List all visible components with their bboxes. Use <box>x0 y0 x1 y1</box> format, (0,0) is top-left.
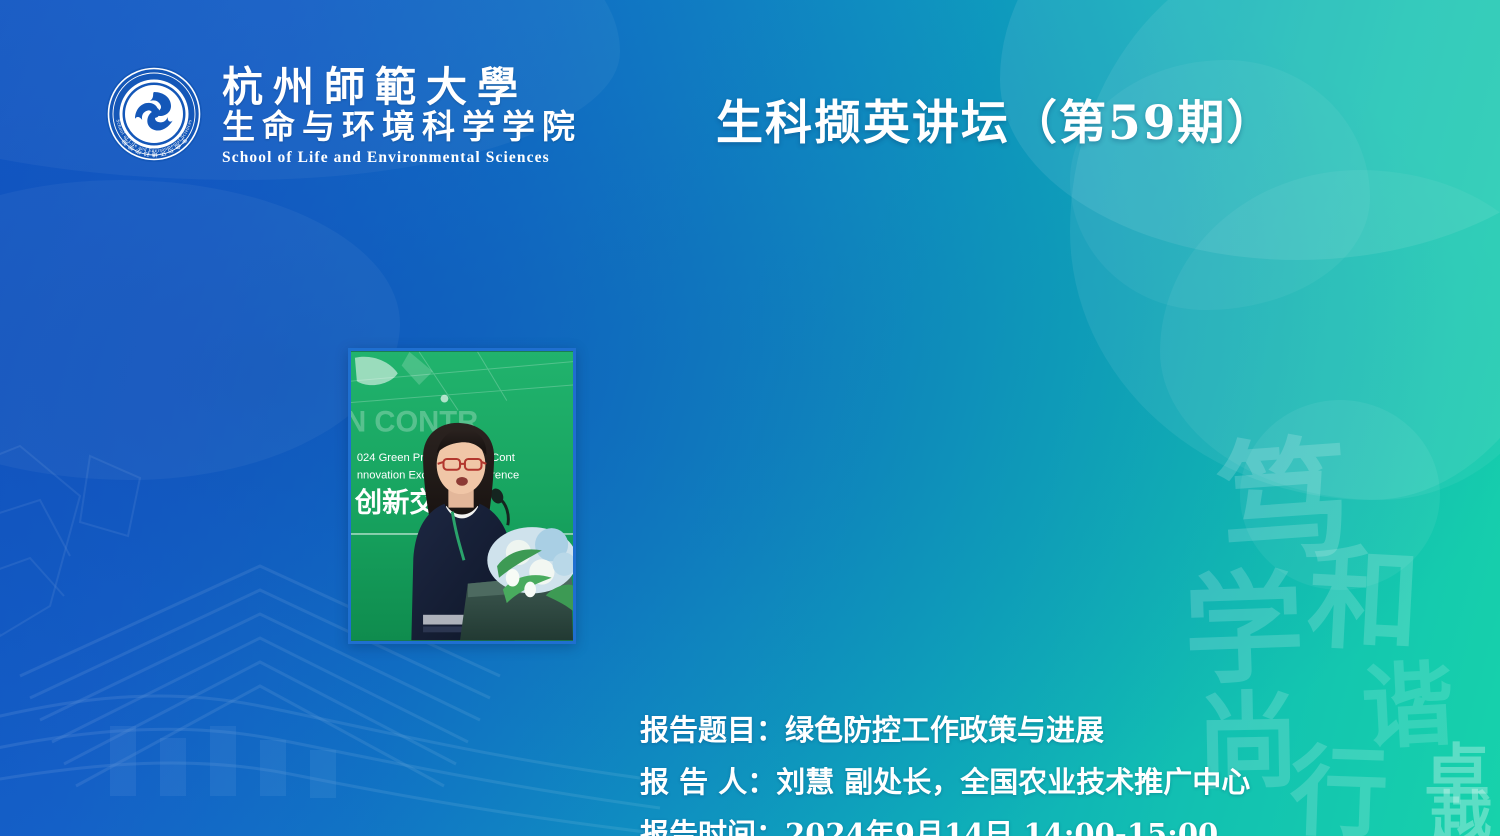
school-name-cn: 生命与环境科学学院 <box>222 109 582 146</box>
university-brand-lockup: 生命与环境科学学院 School of Life and Environment… <box>104 62 582 167</box>
poster-header: 生命与环境科学学院 School of Life and Environment… <box>0 0 1500 176</box>
seminar-info-block: 报告题目：绿色防控工作政策与进展 报 告 人：刘慧 副处长，全国农业技术推广中心… <box>640 704 1440 836</box>
info-row-time: 报告时间：2024年9月14日 14:00-15:00 <box>640 808 1440 836</box>
info-value-topic: 绿色防控工作政策与进展 <box>785 713 1104 747</box>
seminar-poster: 笃 学 和 尚 行 谐 卓 越 <box>0 0 1500 836</box>
info-value-time: 2024年9月14日 14:00-15:00 <box>785 817 1218 836</box>
brand-text-block: 杭州師範大學 生命与环境科学学院 School of Life and Envi… <box>222 62 582 167</box>
info-value-speaker: 刘慧 副处长，全国农业技术推广中心 <box>776 765 1250 799</box>
speaker-photo: N CONTR 024 Green Prevention and Cont nn… <box>348 348 576 644</box>
page-title: 生科撷英讲坛（第59期） <box>716 84 1275 153</box>
info-label-speaker: 报 告 人： <box>640 765 776 799</box>
info-label-time: 报告时间： <box>640 817 785 836</box>
school-name-en: School of Life and Environmental Science… <box>222 149 582 167</box>
info-label-topic: 报告题目： <box>640 713 785 747</box>
university-name: 杭州師範大學 <box>222 66 582 109</box>
school-emblem-icon: 生命与环境科学学院 School of Life and Environment… <box>104 64 204 164</box>
info-row-topic: 报告题目：绿色防控工作政策与进展 <box>640 704 1440 756</box>
info-row-speaker: 报 告 人：刘慧 副处长，全国农业技术推广中心 <box>640 756 1440 808</box>
